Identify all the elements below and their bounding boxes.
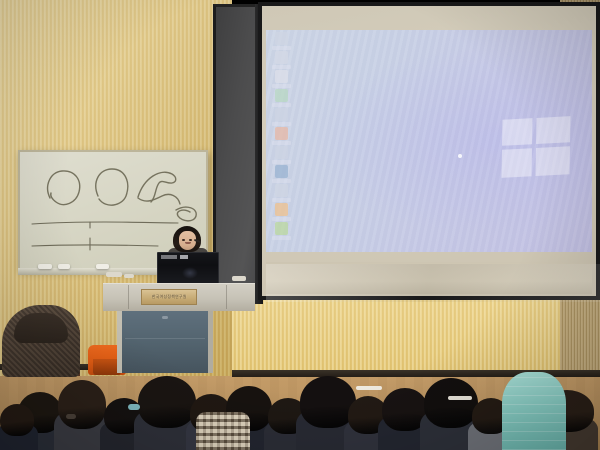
podium-knob[interactable] xyxy=(162,316,168,319)
shield-icon[interactable] xyxy=(275,184,288,197)
hairtie-dark xyxy=(66,414,76,419)
folder-icon[interactable] xyxy=(275,51,288,64)
podium-body xyxy=(117,311,213,373)
podium-groove xyxy=(125,338,205,339)
headband-white xyxy=(356,386,382,390)
arch-tail-sketch xyxy=(138,194,180,204)
podium-monitor[interactable] xyxy=(157,252,219,285)
arch-curve-sketch xyxy=(138,172,176,202)
recycle-bin-icon[interactable] xyxy=(275,32,288,45)
circle-sketch-right xyxy=(96,169,128,205)
podium-seam-left xyxy=(128,285,129,309)
puffer-quilting xyxy=(502,372,566,450)
browser-icon[interactable] xyxy=(275,89,288,102)
scrunchie-teal xyxy=(128,404,140,410)
attendee xyxy=(0,404,34,436)
attendee xyxy=(58,380,106,429)
monitor-sticker xyxy=(180,255,188,259)
desk-item-mouse[interactable] xyxy=(232,276,246,281)
presenter-eye-left xyxy=(182,239,185,241)
install-icon[interactable] xyxy=(275,222,288,235)
projection-screen xyxy=(258,2,600,300)
teal-puffer-attendee xyxy=(502,372,566,450)
wicker-chair-seat xyxy=(14,313,68,343)
app-icon[interactable] xyxy=(275,127,288,140)
horizontal-line-lower xyxy=(32,245,158,246)
screen-crease-highlight xyxy=(266,264,600,302)
projected-desktop[interactable] xyxy=(266,30,592,252)
dark-pillar-panel xyxy=(213,4,260,304)
podium-seam-right xyxy=(226,285,227,309)
horizontal-line-upper xyxy=(32,222,178,224)
plaid-scarf-attendee xyxy=(196,412,250,450)
marker-3[interactable] xyxy=(96,264,109,269)
marker-1[interactable] xyxy=(38,264,52,269)
office-icon[interactable] xyxy=(275,146,288,159)
attendee xyxy=(138,376,196,428)
podium-plaque: 한국여성정책연구원 xyxy=(141,289,197,305)
desk-item-papers[interactable] xyxy=(106,272,122,277)
circle-sketch-left xyxy=(48,171,80,205)
monitor-brand-label xyxy=(161,255,177,259)
lecture-hall-photo: 한국여성정책연구원 xyxy=(0,0,600,450)
desk-item-remote[interactable] xyxy=(124,274,134,278)
presenter-eye-right xyxy=(189,239,192,241)
mouse-cursor xyxy=(458,154,462,158)
chat-icon[interactable] xyxy=(275,203,288,216)
desktop-icon-column xyxy=(270,32,296,241)
media-icon[interactable] xyxy=(275,108,288,121)
windows-logo-watermark xyxy=(501,116,570,178)
tool-icon[interactable] xyxy=(275,165,288,178)
attendee xyxy=(424,378,478,428)
marker-2[interactable] xyxy=(58,264,70,269)
document-icon[interactable] xyxy=(275,70,288,83)
podium-plaque-text: 한국여성정책연구원 xyxy=(152,294,187,300)
wave-squiggle-sketch xyxy=(176,207,196,221)
wicker-chair xyxy=(2,305,80,377)
hairband-white xyxy=(448,396,472,400)
monitor-screen-glow xyxy=(182,267,198,279)
